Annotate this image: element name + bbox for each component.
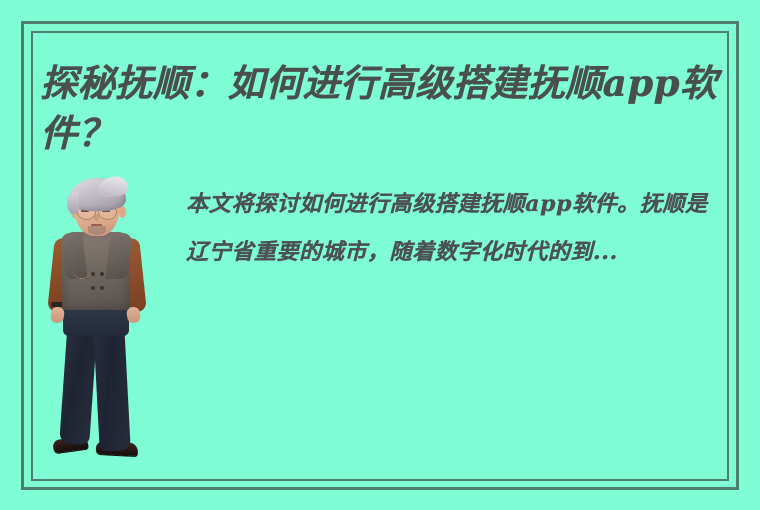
goatee: [88, 226, 106, 235]
ear-right: [119, 206, 126, 218]
hair-sideburn: [67, 192, 79, 214]
pocket-watch-chain: [72, 260, 92, 279]
illustration-container: [36, 176, 186, 476]
article-title: 探秘抚顺：如何进行高级搭建抚顺app软件？: [40, 58, 730, 158]
article-summary: 本文将探讨如何进行高级搭建抚顺app软件。抚顺是辽宁省重要的城市，随着数字化时代…: [186, 176, 730, 276]
man-with-glasses-illustration: [36, 176, 186, 476]
article-body: 本文将探讨如何进行高级搭建抚顺app软件。抚顺是辽宁省重要的城市，随着数字化时代…: [36, 176, 730, 476]
vest-button: [100, 286, 104, 290]
vest-button: [100, 272, 104, 276]
vest-button: [91, 272, 95, 276]
mouth: [91, 224, 102, 226]
article-card: 探秘抚顺：如何进行高级搭建抚顺app软件？: [0, 0, 760, 510]
vest-button: [91, 286, 95, 290]
